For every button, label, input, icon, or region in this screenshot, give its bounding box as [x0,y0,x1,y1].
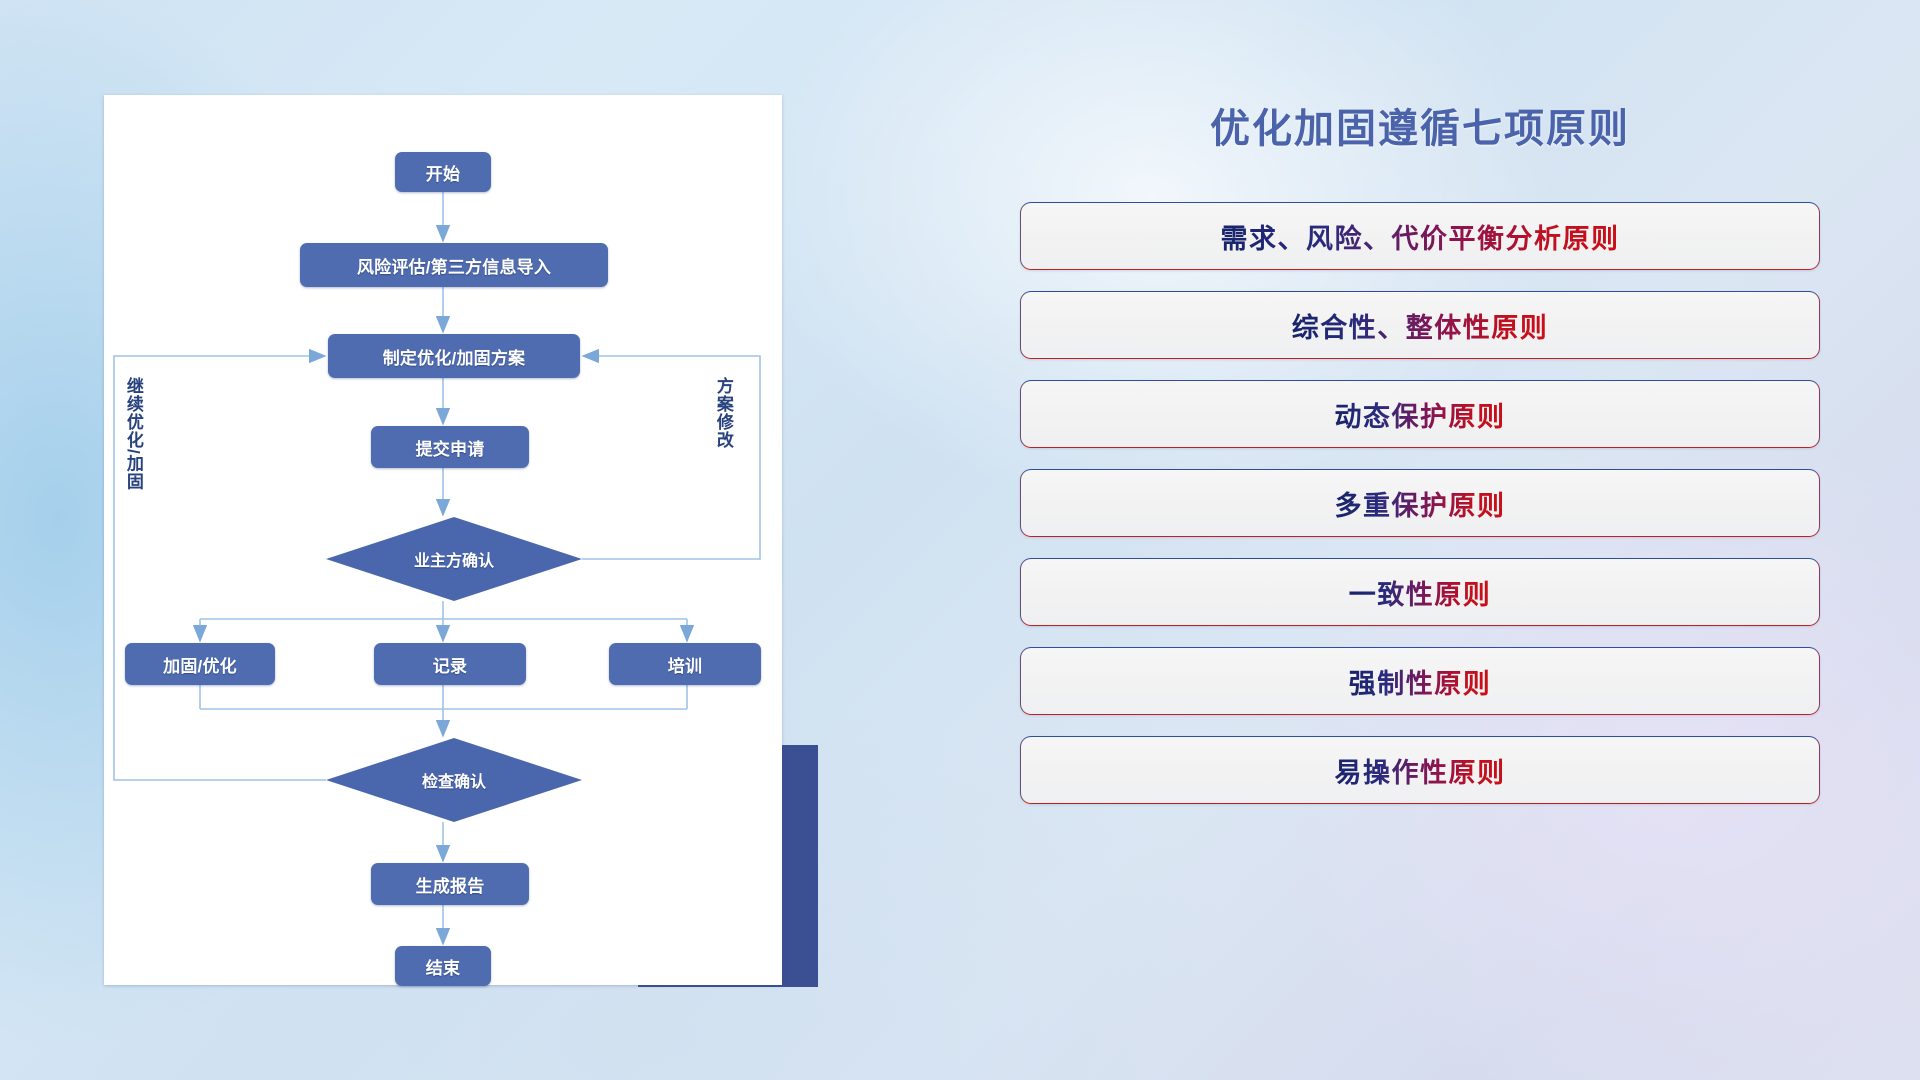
flow-node-training[interactable]: 培训 [609,643,761,685]
principle-card-4-label: 多重保护原则 [1335,484,1506,523]
principle-card-7-label: 易操作性原则 [1335,751,1506,790]
diamond-shape [326,517,582,601]
flow-edge-label-plan-revision: 方案修改 [714,377,732,497]
flow-node-risk-assessment[interactable]: 风险评估/第三方信息导入 [300,243,608,287]
principle-card-6-label: 强制性原则 [1349,662,1492,701]
principle-card-1-label: 需求、风险、代价平衡分析原则 [1221,217,1620,256]
diamond-shape [326,738,582,822]
principle-card-6[interactable]: 强制性原则 [1020,647,1820,715]
principle-card-2-label: 综合性、整体性原则 [1292,306,1549,345]
flow-node-generate-report[interactable]: 生成报告 [371,863,529,905]
slide-canvas: 开始 风险评估/第三方信息导入 制定优化/加固方案 提交申请 业主方确认 加固/… [0,0,1920,1080]
flow-edge-label-continue-optimize: 继续优化/加固 [124,377,142,537]
flow-node-owner-confirm[interactable]: 业主方确认 [326,517,582,601]
principle-card-7[interactable]: 易操作性原则 [1020,736,1820,804]
principle-card-5[interactable]: 一致性原则 [1020,558,1820,626]
principle-card-1[interactable]: 需求、风险、代价平衡分析原则 [1020,202,1820,270]
flow-node-submit-application[interactable]: 提交申请 [371,426,529,468]
flow-node-end[interactable]: 结束 [395,946,491,986]
flow-node-start[interactable]: 开始 [395,152,491,192]
flowchart-panel: 开始 风险评估/第三方信息导入 制定优化/加固方案 提交申请 业主方确认 加固/… [104,95,782,985]
flow-node-reinforce-optimize[interactable]: 加固/优化 [125,643,275,685]
principle-card-3-label: 动态保护原则 [1335,395,1506,434]
principle-card-2[interactable]: 综合性、整体性原则 [1020,291,1820,359]
principles-card-list: 需求、风险、代价平衡分析原则 综合性、整体性原则 动态保护原则 多重保护原则 一… [1020,202,1820,804]
flow-node-make-plan[interactable]: 制定优化/加固方案 [328,334,580,378]
principle-card-3[interactable]: 动态保护原则 [1020,380,1820,448]
flow-node-inspection-confirm[interactable]: 检查确认 [326,738,582,822]
panel-title: 优化加固遵循七项原则 [1020,96,1820,154]
principle-card-4[interactable]: 多重保护原则 [1020,469,1820,537]
flow-node-record[interactable]: 记录 [374,643,526,685]
principles-panel: 优化加固遵循七项原则 需求、风险、代价平衡分析原则 综合性、整体性原则 动态保护… [1020,96,1820,804]
principle-card-5-label: 一致性原则 [1349,573,1492,612]
